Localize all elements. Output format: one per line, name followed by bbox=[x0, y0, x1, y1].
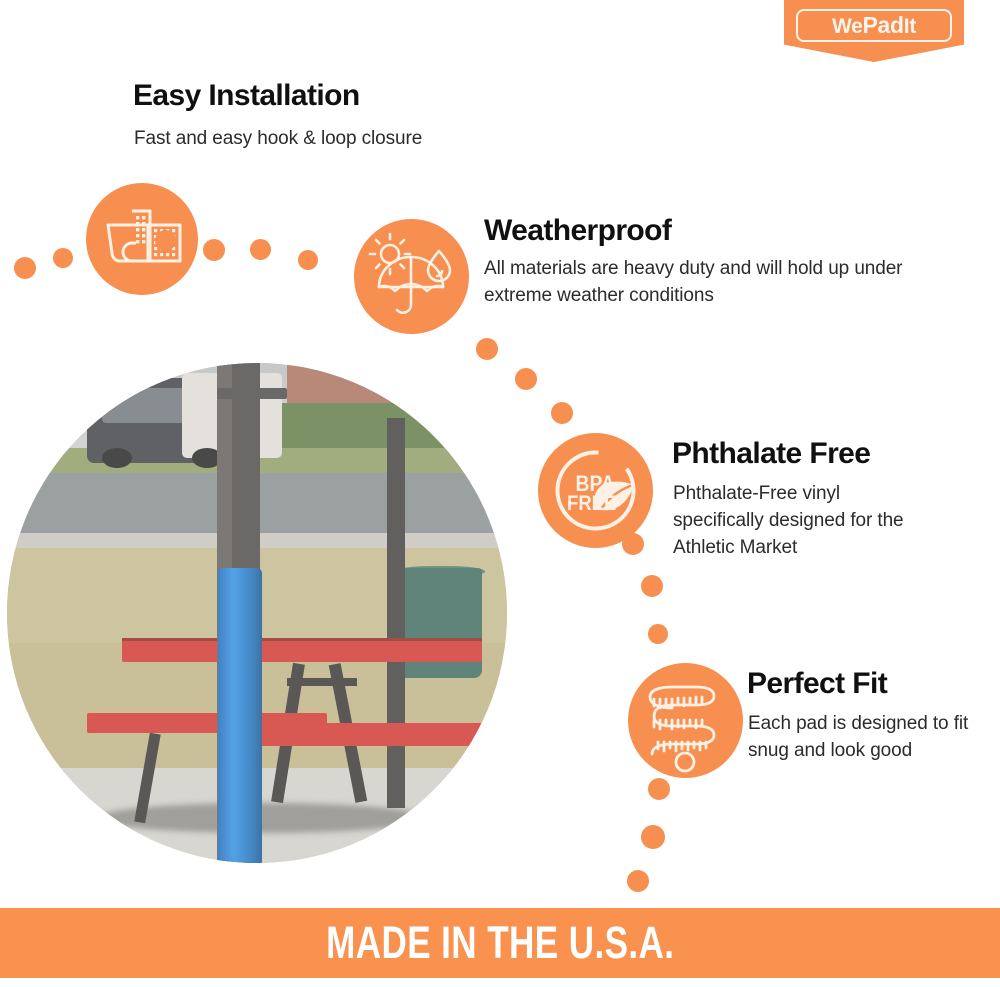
path-dot bbox=[476, 338, 498, 360]
feature-body-weatherproof: All materials are heavy duty and will ho… bbox=[484, 256, 909, 310]
brand-logo-it: It bbox=[904, 15, 916, 38]
path-dot bbox=[641, 825, 665, 849]
hook-and-loop-icon bbox=[86, 183, 198, 295]
feature-title-easy-installation: Easy Installation bbox=[133, 80, 360, 112]
path-dot bbox=[551, 402, 573, 424]
path-dot bbox=[14, 257, 36, 279]
feature-title-phthalate-free: Phthalate Free bbox=[672, 438, 870, 470]
path-dot bbox=[627, 870, 649, 892]
path-dot bbox=[155, 230, 176, 251]
path-dot bbox=[298, 250, 318, 270]
bpa-free-leaf-icon: BPA FREE bbox=[538, 433, 653, 548]
path-dot bbox=[53, 248, 73, 268]
brand-logo-we: We bbox=[832, 15, 863, 38]
feature-body-easy-installation: Fast and easy hook & loop closure bbox=[134, 126, 554, 153]
brand-logo-text: WePadIt bbox=[832, 14, 916, 37]
brand-logo-pad: Pad bbox=[863, 12, 904, 38]
sun-umbrella-raindrop-icon bbox=[354, 219, 469, 334]
path-dot bbox=[641, 575, 663, 597]
feature-title-perfect-fit: Perfect Fit bbox=[747, 668, 887, 700]
feature-body-phthalate-free: Phthalate-Free vinyl specifically design… bbox=[673, 481, 935, 562]
product-photo bbox=[7, 363, 507, 863]
feature-title-weatherproof: Weatherproof bbox=[484, 215, 671, 247]
made-in-usa-banner: MADE IN THE U.S.A. bbox=[0, 908, 1000, 978]
path-dot bbox=[622, 533, 644, 555]
made-in-usa-text: MADE IN THE U.S.A. bbox=[326, 917, 674, 969]
path-dot bbox=[648, 778, 670, 800]
path-dot bbox=[515, 368, 537, 390]
path-dot bbox=[203, 239, 225, 261]
feature-body-perfect-fit: Each pad is designed to fit snug and loo… bbox=[748, 711, 973, 765]
path-dot bbox=[648, 624, 668, 644]
svg-text:FREE: FREE bbox=[567, 492, 616, 515]
measuring-tape-icon bbox=[628, 663, 743, 778]
brand-logo-frame: WePadIt bbox=[796, 9, 952, 42]
brand-logo-banner: WePadIt bbox=[784, 0, 964, 62]
path-dot bbox=[250, 239, 271, 260]
product-infographic: WePadIt Easy Installation Fast and easy … bbox=[0, 0, 1000, 987]
